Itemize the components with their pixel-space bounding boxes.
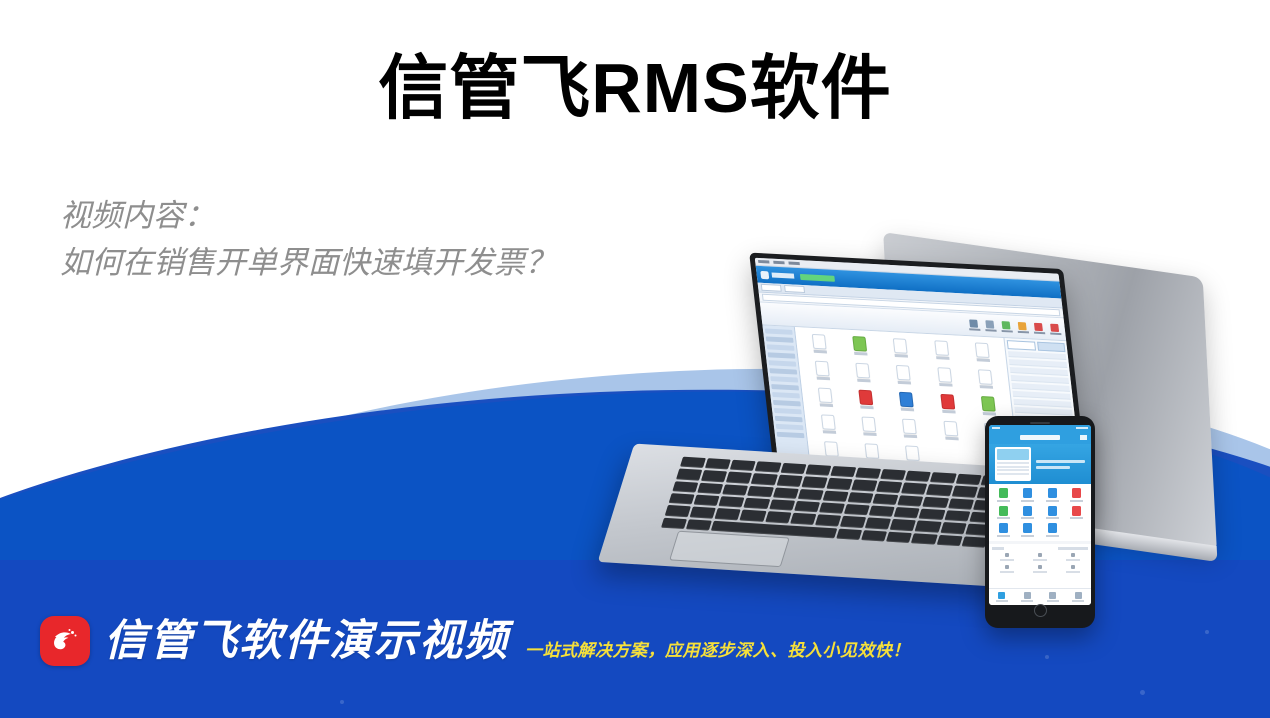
stat-cell <box>992 565 1023 573</box>
phone-stats-panel <box>989 544 1091 589</box>
stats-grid <box>992 553 1088 573</box>
feiniao-bird-logo-icon <box>40 616 90 666</box>
app-logo-icon <box>760 270 769 278</box>
decorative-dot <box>1140 690 1145 695</box>
device-illustration <box>560 238 1270 638</box>
phone-grid-icon <box>1066 506 1089 520</box>
phone-grid-icon <box>1041 506 1064 520</box>
app-grid-icon <box>890 418 930 443</box>
toolbar-icon <box>999 320 1012 332</box>
phone-grid-icon <box>1066 488 1089 502</box>
app-grid-icon <box>843 362 883 387</box>
app-grid-icon <box>962 342 1002 367</box>
laptop-trackpad <box>669 531 790 567</box>
toolbar-icon <box>1016 321 1029 333</box>
brand-name: 信管飞软件演示视频 <box>104 620 509 663</box>
right-panel-tabs <box>1007 340 1066 352</box>
toolbar-icon <box>1032 322 1045 334</box>
phone-app-title <box>1020 435 1060 440</box>
nav-item-reports <box>1040 592 1066 602</box>
phone-grid-icon <box>1017 523 1040 537</box>
phone-banner <box>989 444 1091 484</box>
app-logo-text <box>772 273 795 279</box>
stat-cell <box>992 553 1023 561</box>
app-grid-icon <box>806 387 846 412</box>
app-grid-icon <box>925 366 965 391</box>
phone-grid-icon <box>1041 488 1064 502</box>
subtitle-line-1: 视频内容： <box>60 192 700 239</box>
nav-item-home <box>989 592 1015 602</box>
phone-app-header <box>989 431 1091 444</box>
phone-bottom-nav <box>989 588 1091 605</box>
decorative-dot <box>340 700 344 704</box>
app-module-tag <box>800 273 835 281</box>
page-title: 信管飞RMS软件 <box>0 52 1270 126</box>
app-grid-icon <box>803 360 843 385</box>
app-grid-icon <box>809 414 849 439</box>
app-grid-icon <box>846 389 886 414</box>
phone-grid-icon <box>1041 523 1064 537</box>
decorative-dot <box>1045 655 1049 659</box>
stat-cell <box>1057 565 1088 573</box>
app-grid-icon <box>884 364 924 389</box>
phone-home-button[interactable] <box>989 605 1091 616</box>
phone-grid-icon <box>992 506 1015 520</box>
nav-item-profile <box>1066 592 1092 602</box>
app-grid-icon <box>800 333 840 358</box>
mobile-phone <box>985 416 1095 628</box>
phone-grid-icon <box>992 523 1015 537</box>
banner-card-image <box>995 447 1031 481</box>
brand-tagline: 一站式解决方案，应用逐步深入、投入小见效快！ <box>525 636 910 661</box>
banner-text <box>1036 460 1085 469</box>
toolbar-icon <box>1048 323 1061 335</box>
phone-grid-icon <box>1017 506 1040 520</box>
app-grid-icon <box>928 393 968 418</box>
phone-grid-icon <box>992 488 1015 502</box>
app-grid-icon <box>965 369 1005 394</box>
phone-screen <box>989 425 1091 605</box>
stat-cell <box>1025 565 1056 573</box>
stat-cell <box>1025 553 1056 561</box>
nav-item-docs <box>1015 592 1041 602</box>
stat-cell <box>1057 553 1088 561</box>
phone-icon-grid <box>989 484 1091 541</box>
app-grid-icon <box>922 340 962 365</box>
phone-menu-icon <box>1080 435 1087 440</box>
brand-bar: 信管飞软件演示视频 一站式解决方案，应用逐步深入、投入小见效快！ <box>40 616 910 666</box>
toolbar-icon <box>983 320 996 332</box>
stats-header <box>992 547 1088 550</box>
slide-canvas: 信管飞RMS软件 视频内容： 如何在销售开单界面快速填开发票？ <box>0 0 1270 718</box>
phone-grid-icon <box>1066 523 1089 537</box>
app-grid-icon <box>840 335 880 360</box>
app-grid-icon <box>931 420 971 445</box>
app-grid-icon <box>881 337 921 362</box>
app-grid-icon-selected <box>887 391 927 416</box>
toolbar-icon <box>967 319 980 331</box>
phone-grid-icon <box>1017 488 1040 502</box>
app-grid-icon <box>849 416 889 441</box>
